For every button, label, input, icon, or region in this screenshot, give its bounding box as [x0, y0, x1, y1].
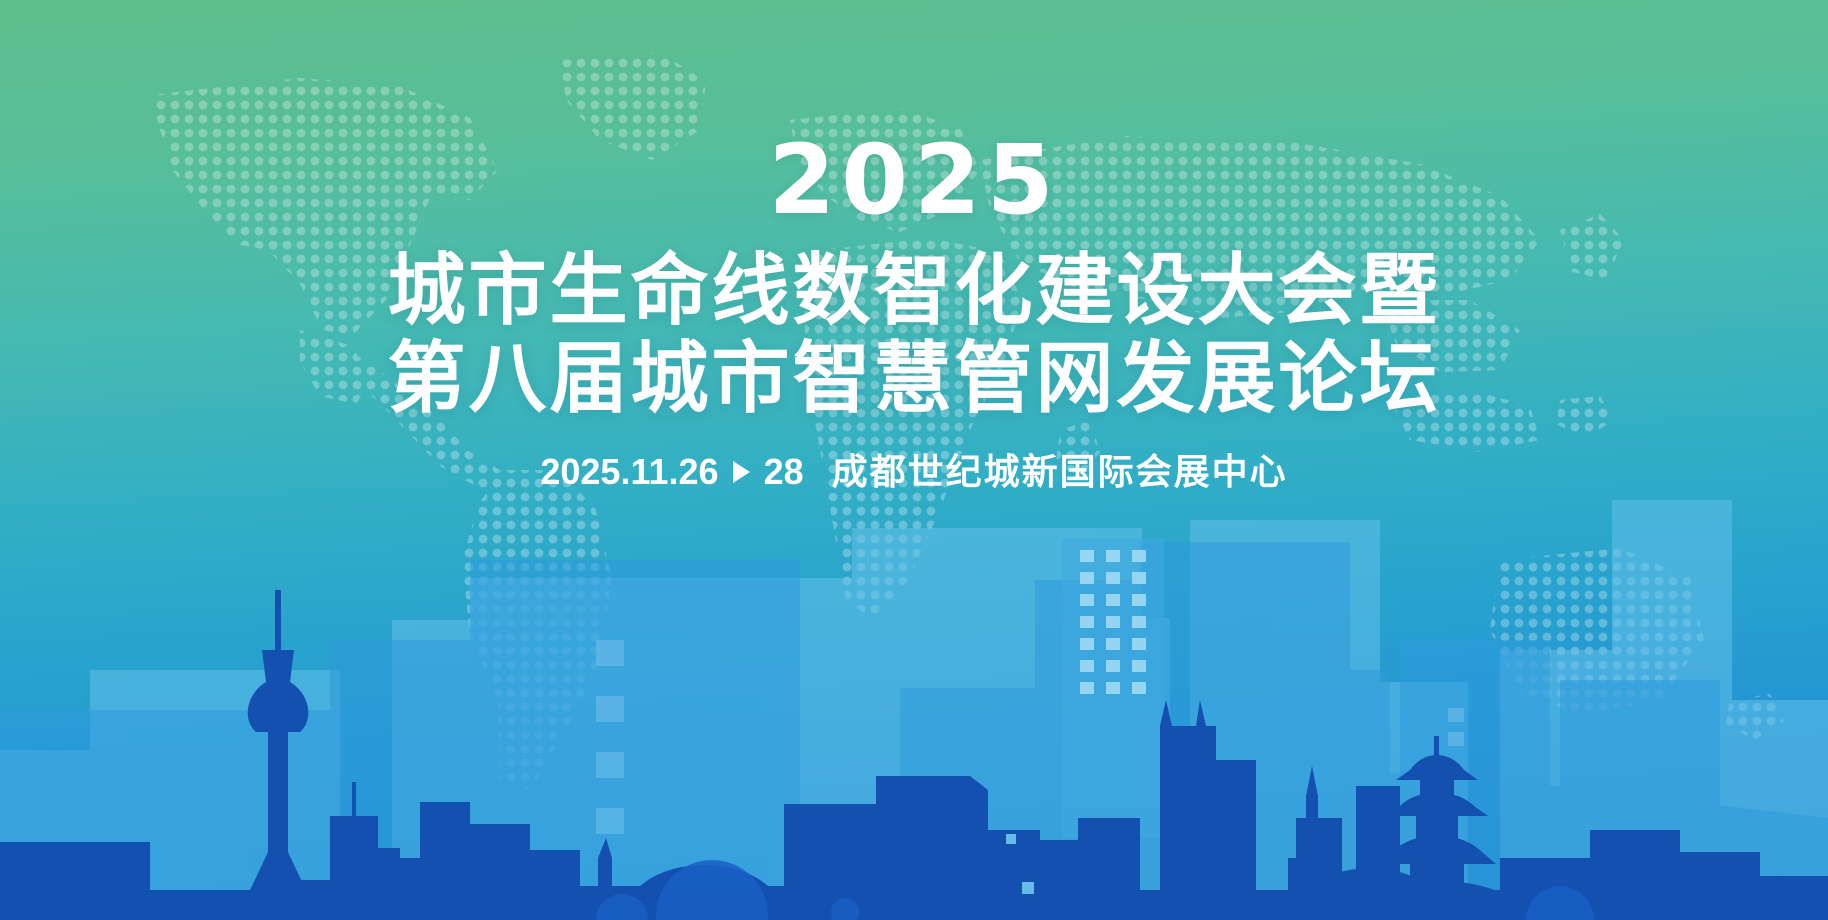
event-meta: 2025.11.26 28 成都世纪城新国际会展中心 [0, 454, 1828, 490]
conference-banner: 2025 城市生命线数智化建设大会暨 第八届城市智慧管网发展论坛 2025.11… [0, 0, 1828, 920]
banner-content: 2025 城市生命线数智化建设大会暨 第八届城市智慧管网发展论坛 2025.11… [0, 0, 1828, 490]
title-line-1: 城市生命线数智化建设大会暨 [0, 248, 1828, 332]
skyline-layer-near [0, 590, 1828, 920]
year-heading: 2025 [0, 128, 1828, 232]
year-text: 2025 [758, 128, 1069, 232]
title-line-2: 第八届城市智慧管网发展论坛 [0, 336, 1828, 420]
event-date-start: 2025.11.26 [540, 454, 718, 490]
conference-title: 城市生命线数智化建设大会暨 第八届城市智慧管网发展论坛 [0, 248, 1828, 420]
play-triangle-icon [733, 461, 750, 483]
event-date-end: 28 [764, 454, 804, 490]
tv-tower-icon [236, 590, 320, 920]
event-venue: 成都世纪城新国际会展中心 [832, 454, 1288, 490]
